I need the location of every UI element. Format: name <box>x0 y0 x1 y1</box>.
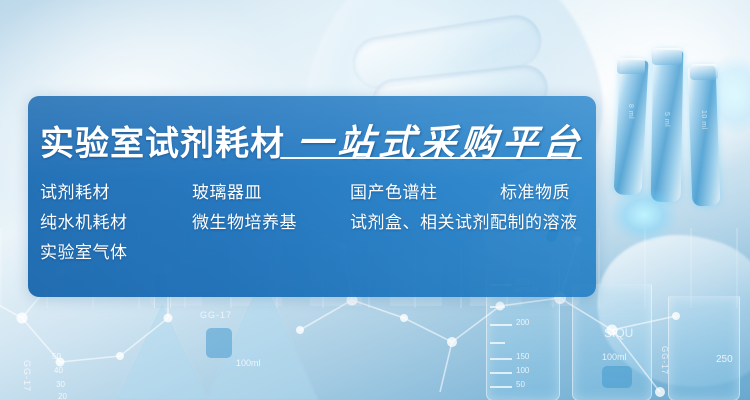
category-row-3: 实验室气体 <box>40 238 596 268</box>
vial-label: 8 ml <box>627 104 634 119</box>
flask-mark: 40 <box>54 366 63 375</box>
glass-brand-right-2: GG-17 <box>660 346 669 375</box>
category-item[interactable]: 试剂盒、相关试剂配制的溶液 <box>350 208 578 233</box>
title-underline <box>280 157 582 159</box>
category-list: 试剂耗材 玻璃器皿 国产色谱柱 标准物质 纯水机耗材 微生物培养基 试剂盒、相关… <box>40 178 596 268</box>
vial-cap <box>652 48 682 65</box>
category-item[interactable]: 国产色谱柱 <box>350 178 438 203</box>
panel-title: 实验室试剂耗材 一站式采购平台 <box>40 112 596 168</box>
glass-brand-flask: GG-17 <box>22 360 32 392</box>
category-item[interactable]: 试剂耗材 <box>40 178 110 203</box>
vial-glow <box>596 176 692 254</box>
category-item[interactable]: 玻璃器皿 <box>192 178 262 203</box>
beaker-mark: 100 <box>516 366 529 375</box>
glass-brand-left: GG-17 <box>200 310 232 320</box>
vial-label: 5 ml <box>663 112 670 127</box>
sample-vial <box>688 66 721 207</box>
category-item[interactable]: 实验室气体 <box>40 238 128 263</box>
beaker-mark-right: 250 <box>716 354 733 365</box>
beaker-volume-label-right: 100ml <box>602 352 627 362</box>
category-row-2: 纯水机耗材 微生物培养基 试剂盒、相关试剂配制的溶液 <box>40 208 596 238</box>
category-item[interactable]: 标准物质 <box>500 178 570 203</box>
promo-panel: 实验室试剂耗材 一站式采购平台 试剂耗材 玻璃器皿 国产色谱柱 标准物质 纯水机… <box>28 96 596 297</box>
vial-label: 10 ml <box>700 110 707 130</box>
beaker-mark: 200 <box>516 318 529 327</box>
vial-cap <box>617 58 645 74</box>
category-item[interactable]: 微生物培养基 <box>192 208 297 233</box>
vial-cap <box>690 64 718 80</box>
flask-mark: 50 <box>52 352 61 361</box>
category-item[interactable]: 纯水机耗材 <box>40 208 128 233</box>
beaker-volume-label: 100ml <box>236 358 261 368</box>
erlenmeyer-flask <box>116 304 208 400</box>
flask-mark: 20 <box>58 392 67 400</box>
beaker-frosted-patch <box>602 366 632 388</box>
beaker-mark: 50 <box>516 380 525 389</box>
beaker-mark: 150 <box>516 352 529 361</box>
beaker-frosted-patch <box>206 328 232 358</box>
graduated-beaker <box>668 296 740 400</box>
category-row-1: 试剂耗材 玻璃器皿 国产色谱柱 标准物质 <box>40 178 596 208</box>
glass-brand-right: SIQU <box>604 326 633 340</box>
flask-mark: 30 <box>56 380 65 389</box>
banner-root: 8 ml 5 ml 10 ml 250 APPROX 200 150 100 5… <box>0 0 750 400</box>
title-main-text: 实验室试剂耗材 <box>40 116 285 165</box>
